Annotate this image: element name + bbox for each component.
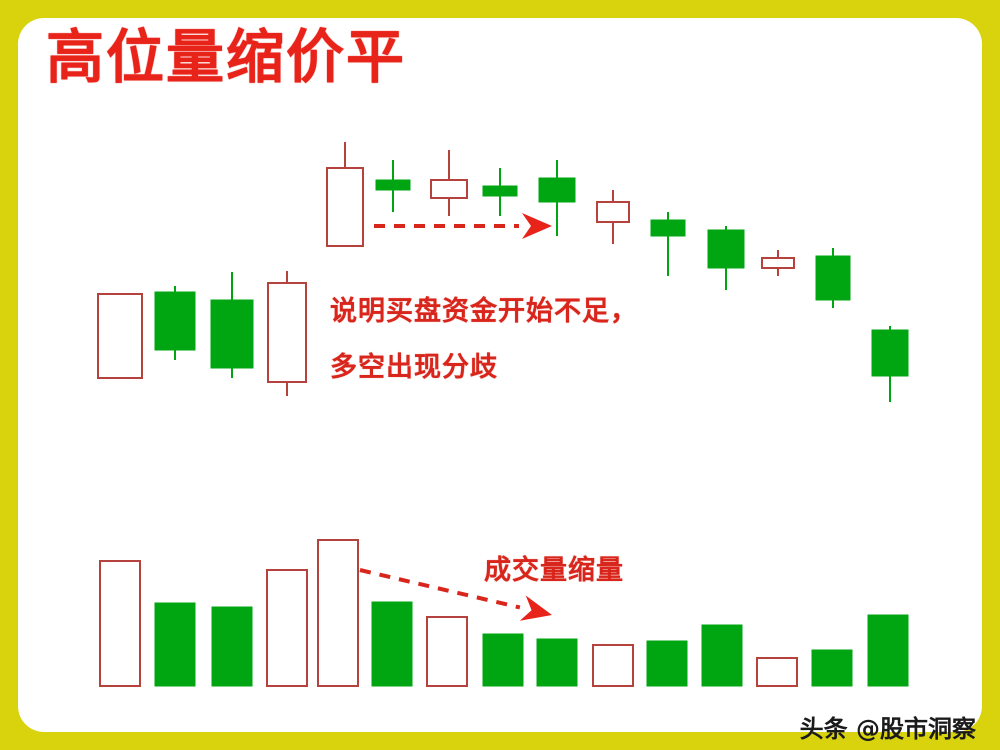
volume-annotation: 成交量缩量	[484, 548, 624, 587]
page-title: 高位量缩价平	[46, 26, 406, 90]
white-panel	[18, 18, 982, 732]
price-annotation-line-1: 说明买盘资金开始不足，	[330, 289, 638, 328]
chart-image-root: 高位量缩价平 说明买盘资金开始不足， 多空出现分歧 成交量缩量 头条 @股市洞察	[0, 0, 1000, 750]
price-annotation-line-2: 多空出现分歧	[330, 345, 498, 384]
watermark-label: 头条 @股市洞察	[800, 709, 976, 744]
